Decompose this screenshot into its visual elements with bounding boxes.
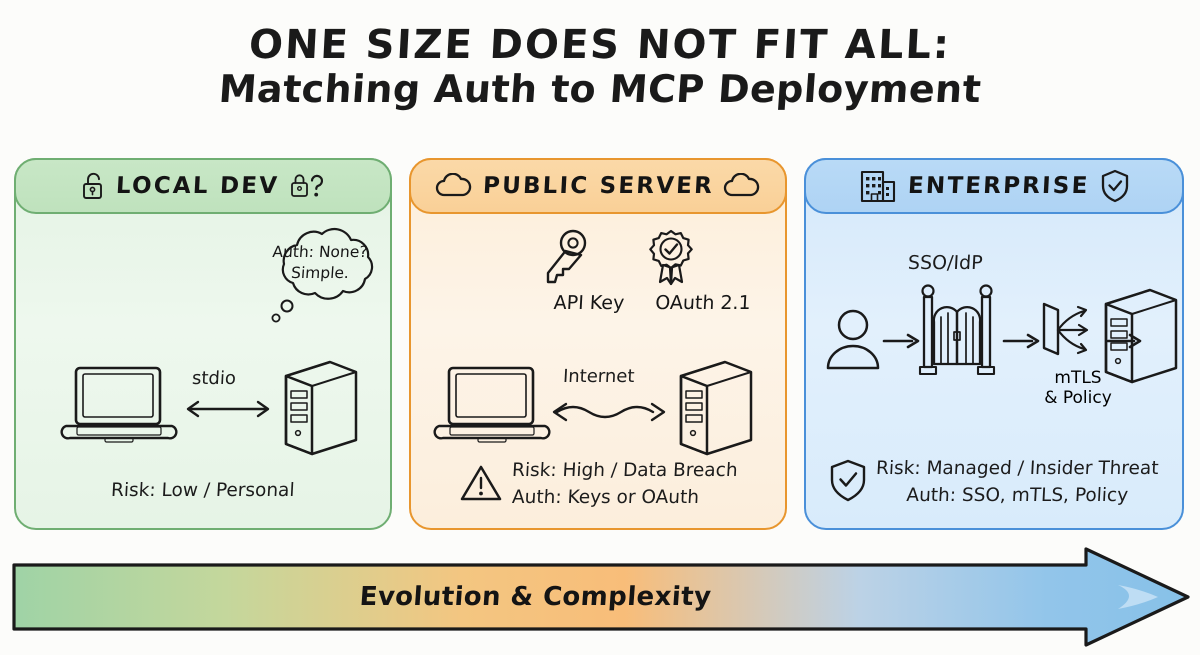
panel-public-server-footer: Risk: High / Data Breach Auth: Keys or O… [411, 458, 785, 512]
panel-enterprise-body: SSO/IdP [806, 216, 1182, 528]
panel-local-dev-footer: Risk: Low / Personal [16, 478, 390, 505]
panel-local-dev-header: LOCAL DEV [14, 158, 392, 214]
policy-fanout-icon [1038, 298, 1106, 360]
server-tower-icon [278, 354, 364, 458]
panel-enterprise-footer: Risk: Managed / Insider Threat Auth: SSO… [806, 456, 1182, 510]
internet-label: Internet [562, 366, 635, 387]
title-line-1: ONE SIZE DOES NOT FIT ALL: [0, 24, 1200, 66]
panel-public-server-header: PUBLIC SERVER [409, 158, 787, 214]
gate-icon [918, 284, 996, 380]
cloud-outline-icon [723, 173, 761, 199]
laptop-icon [60, 364, 178, 450]
panel-local-dev-title: LOCAL DEV [116, 173, 281, 199]
panel-public-server-body: API Key OAuth 2.1 [411, 216, 785, 528]
key-icon [539, 228, 593, 290]
panel-enterprise-header: ENTERPRISE [804, 158, 1184, 214]
server-tower-icon [1098, 282, 1184, 386]
laptop-icon [433, 364, 551, 450]
auth-option-api-key[interactable]: API Key [539, 228, 639, 314]
flow-arrow-2 [1002, 332, 1042, 350]
stdio-label: stdio [191, 368, 236, 389]
thought-bubble-line-1: Auth: None? [249, 242, 390, 263]
local-dev-risk-line: Risk: Low / Personal [111, 478, 296, 505]
public-server-risk-line: Risk: High / Data Breach [511, 458, 738, 485]
thought-bubble: Auth: None? Simple. [250, 226, 390, 338]
shield-check-icon [1100, 169, 1130, 203]
api-key-label: API Key [538, 292, 639, 314]
stdio-connector [180, 398, 276, 420]
oauth-label: OAuth 2.1 [642, 292, 763, 314]
page-title: ONE SIZE DOES NOT FIT ALL: Matching Auth… [0, 24, 1200, 114]
office-building-icon [858, 169, 898, 203]
public-server-auth-line: Auth: Keys or OAuth [511, 485, 738, 512]
locked-padlock-question-icon [290, 170, 326, 202]
panel-enterprise-title: ENTERPRISE [908, 173, 1091, 199]
enterprise-auth-line: Auth: SSO, mTLS, Policy [876, 483, 1160, 510]
user-icon [822, 306, 884, 372]
enterprise-risk-line: Risk: Managed / Insider Threat [876, 456, 1160, 483]
server-tower-icon [673, 354, 759, 458]
panel-local-dev-body: Auth: None? Simple. stdio [16, 216, 390, 528]
panel-public-server[interactable]: PUBLIC SERVER API Key [409, 158, 787, 530]
title-line-2: Matching Auth to MCP Deployment [0, 66, 1200, 114]
internet-connector [543, 398, 675, 426]
rosette-check-icon [643, 228, 699, 290]
warning-triangle-icon [459, 463, 503, 503]
unlocked-padlock-icon [80, 171, 106, 201]
thought-bubble-line-2: Simple. [249, 263, 390, 284]
panel-local-dev[interactable]: LOCAL DEV Auth: N [14, 158, 392, 530]
arrow-shape [14, 549, 1188, 645]
panel-enterprise[interactable]: ENTERPRISE SSO/IdP [804, 158, 1184, 530]
evolution-arrow: Evolution & Complexity [8, 545, 1192, 649]
sso-idp-label: SSO/IdP [907, 252, 983, 274]
policy-label: & Policy [1030, 388, 1126, 408]
diagram-canvas: ONE SIZE DOES NOT FIT ALL: Matching Auth… [0, 0, 1200, 655]
panel-public-server-title: PUBLIC SERVER [482, 173, 714, 199]
cloud-icon [435, 173, 473, 199]
auth-option-oauth[interactable]: OAuth 2.1 [643, 228, 763, 314]
flow-arrow-1 [882, 332, 922, 350]
shield-check-icon [829, 459, 867, 503]
